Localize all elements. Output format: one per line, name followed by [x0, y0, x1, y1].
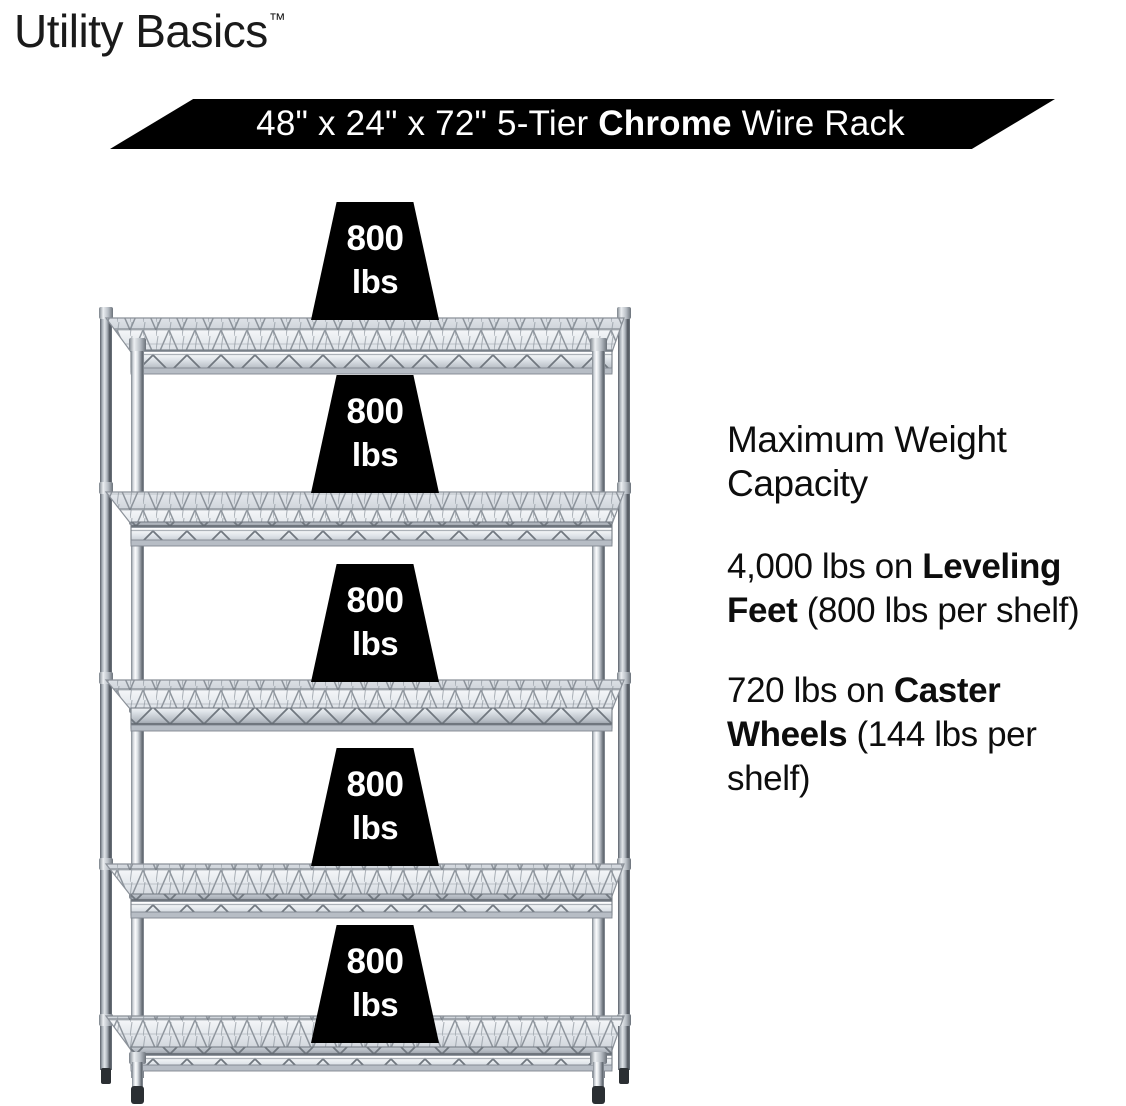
weight-badge-number: 800: [347, 394, 404, 431]
shelf-tier-1: [106, 318, 624, 374]
capacity-copy-block: Maximum Weight Capacity 4,000 lbs on Lev…: [727, 418, 1105, 837]
rack-post-rear-left: [99, 307, 113, 1070]
weight-badge-unit: lbs: [352, 809, 398, 847]
shelf-tier-4: [106, 864, 624, 918]
leveling-detail: (800 lbs per shelf): [797, 591, 1079, 630]
weight-badge-number: 800: [347, 583, 404, 620]
weight-badge-unit: lbs: [352, 625, 398, 663]
leveling-total: 4,000 lbs on: [727, 547, 922, 586]
weight-badge-number: 800: [347, 221, 404, 258]
capacity-caster-wheels: 720 lbs on Caster Wheels (144 lbs per sh…: [727, 669, 1105, 801]
caster-total: 720 lbs on: [727, 671, 894, 710]
weight-badge-unit: lbs: [352, 986, 398, 1024]
capacity-leveling-feet: 4,000 lbs on Leveling Feet (800 lbs per …: [727, 545, 1105, 633]
banner-suffix: Wire Rack: [732, 104, 905, 143]
weight-badge-unit: lbs: [352, 436, 398, 474]
shelf-tier-2: [106, 492, 624, 546]
weight-badge-number: 800: [347, 767, 404, 804]
capacity-heading: Maximum Weight Capacity: [727, 418, 1105, 507]
shelf-tier-3: [106, 680, 624, 731]
weight-badge-number: 800: [347, 944, 404, 981]
infographic-canvas: Utility Basics™ 48" x 24" x 72" 5-Tier C…: [0, 0, 1126, 1106]
weight-badge-unit: lbs: [352, 263, 398, 301]
